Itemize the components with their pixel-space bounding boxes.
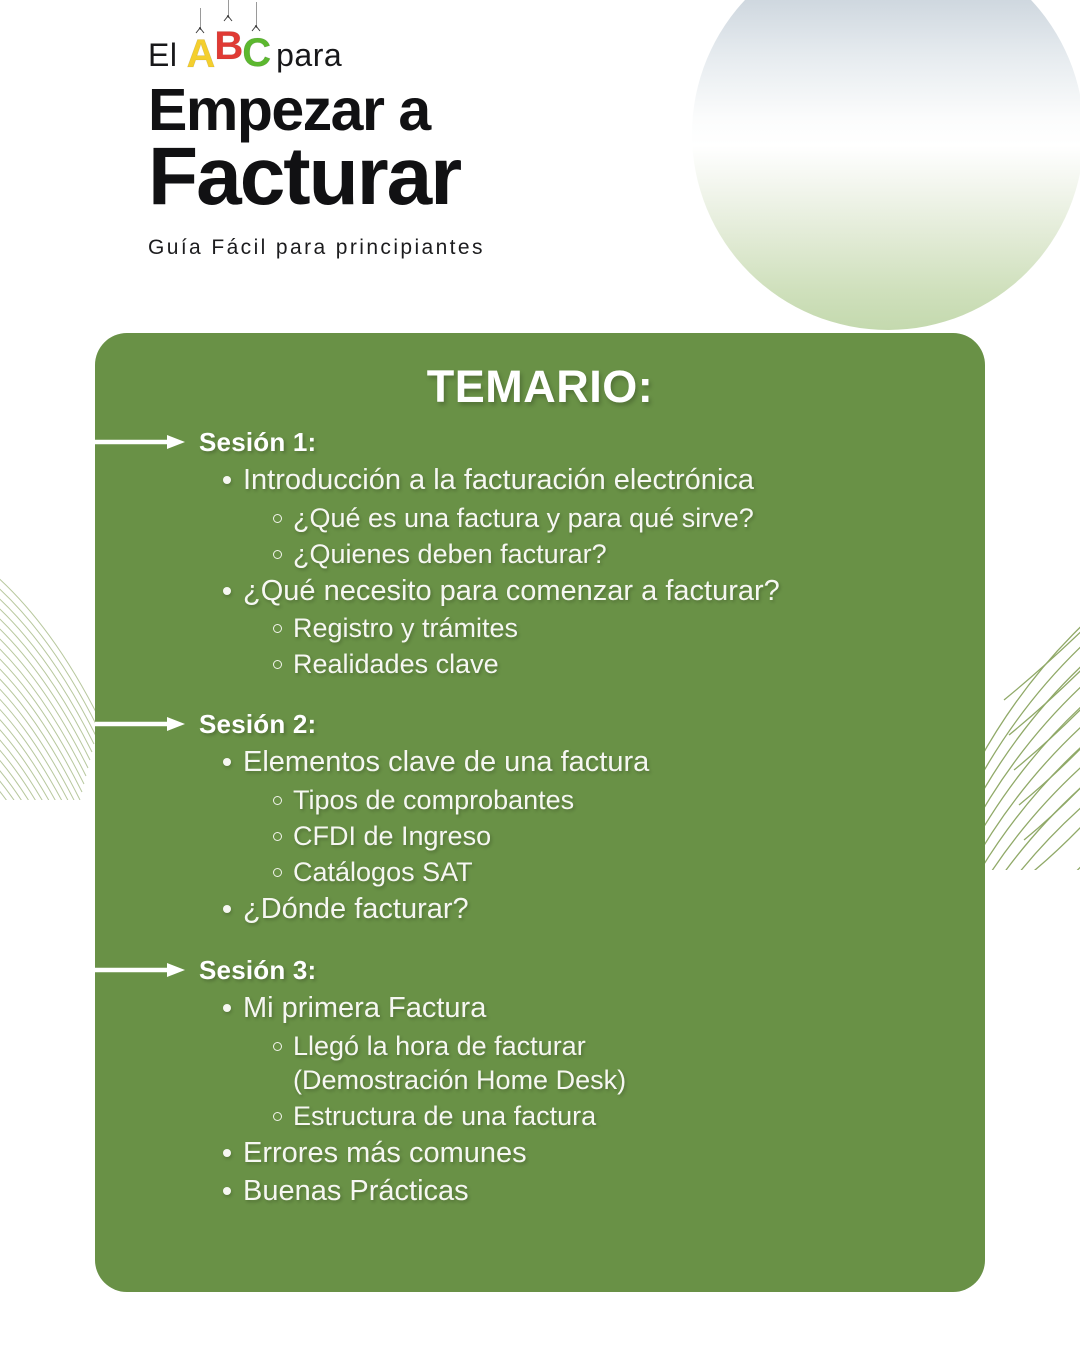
- session-2-header: Sesión 2:: [95, 707, 985, 741]
- abc-letter-b-glyph: B: [214, 24, 242, 68]
- session-2: Sesión 2:Elementos clave de una facturaT…: [95, 707, 985, 927]
- bullet-ring-icon: [273, 1112, 282, 1121]
- session-arrow-icon: [95, 433, 187, 451]
- abc-hanging-letters: A B C: [186, 24, 270, 74]
- session-1: Sesión 1:Introducción a la facturación e…: [95, 425, 985, 681]
- topic-label: Tipos de comprobantes: [293, 783, 574, 817]
- bullet-dot-icon: [223, 905, 231, 913]
- topic-item: Errores más comunes: [95, 1135, 985, 1172]
- topic-label: ¿Qué es una factura y para qué sirve?: [293, 501, 754, 535]
- topic-item: Elementos clave de una factura: [95, 744, 985, 781]
- topic-label: CFDI de Ingreso: [293, 819, 491, 853]
- topic-label: Introducción a la facturación electrónic…: [243, 462, 754, 499]
- session-2-label: Sesión 2:: [199, 709, 316, 740]
- topic-item: ¿Qué necesito para comenzar a facturar?: [95, 573, 985, 610]
- abc-letter-c-glyph: C: [242, 31, 270, 75]
- poster-header: El A B: [148, 24, 708, 260]
- topic-label: ¿Dónde facturar?: [243, 891, 469, 928]
- topic-label: Estructura de una factura: [293, 1099, 596, 1133]
- bullet-ring-icon: [273, 868, 282, 877]
- bullet-dot-icon: [223, 758, 231, 766]
- bullet-ring-icon: [273, 660, 282, 669]
- topic-label: Registro y trámites: [293, 611, 518, 645]
- abc-letter-a-icon: A: [186, 34, 214, 74]
- gradient-circle-decoration: [692, 0, 1080, 330]
- topic-item: CFDI de Ingreso: [95, 819, 985, 853]
- topic-label-continued: (Demostración Home Desk): [293, 1063, 626, 1097]
- kicker-line: El A B: [148, 24, 708, 74]
- topic-item: ¿Dónde facturar?: [95, 891, 985, 928]
- session-list: Sesión 1:Introducción a la facturación e…: [95, 425, 985, 1212]
- topic-label: Mi primera Factura: [243, 990, 486, 1027]
- abc-letter-a-glyph: A: [186, 32, 214, 76]
- bullet-ring-icon: [273, 624, 282, 633]
- session-3-header: Sesión 3:: [95, 953, 985, 987]
- session-1-label: Sesión 1:: [199, 427, 316, 458]
- topic-label: Errores más comunes: [243, 1135, 527, 1172]
- session-1-topics: Introducción a la facturación electrónic…: [95, 462, 985, 681]
- topic-item: Estructura de una factura: [95, 1099, 985, 1133]
- bullet-dot-icon: [223, 1187, 231, 1195]
- session-arrow-icon: [95, 715, 187, 733]
- topic-label: Elementos clave de una factura: [243, 744, 649, 781]
- topic-label: ¿Qué necesito para comenzar a facturar?: [243, 573, 780, 610]
- topic-item: Mi primera Factura: [95, 990, 985, 1027]
- clip-a-icon: [196, 27, 205, 34]
- topic-label: Realidades clave: [293, 647, 499, 681]
- topic-item: Llegó la hora de facturar(Demostración H…: [95, 1029, 985, 1097]
- bullet-dot-icon: [223, 1149, 231, 1157]
- abc-letter-b-icon: B: [214, 26, 242, 74]
- clip-c-icon: [252, 25, 261, 32]
- topic-item: Catálogos SAT: [95, 855, 985, 889]
- topic-item: Registro y trámites: [95, 611, 985, 645]
- bullet-ring-icon: [273, 832, 282, 841]
- bullet-ring-icon: [273, 514, 282, 523]
- bullet-dot-icon: [223, 1004, 231, 1012]
- temario-card: TEMARIO: Sesión 1:Introducción a la fact…: [95, 333, 985, 1292]
- topic-label: ¿Quienes deben facturar?: [293, 537, 607, 571]
- clip-b-icon: [224, 15, 233, 22]
- session-3-topics: Mi primera FacturaLlegó la hora de factu…: [95, 990, 985, 1210]
- session-1-header: Sesión 1:: [95, 425, 985, 459]
- topic-label: Catálogos SAT: [293, 855, 473, 889]
- kicker-suffix: para: [276, 39, 342, 74]
- abc-letter-c-icon: C: [242, 33, 270, 74]
- subtitle: Guía Fácil para principiantes: [148, 236, 708, 260]
- topic-item: Introducción a la facturación electrónic…: [95, 462, 985, 499]
- topic-item: ¿Quienes deben facturar?: [95, 537, 985, 571]
- temario-title: TEMARIO:: [95, 333, 985, 413]
- topic-item: Realidades clave: [95, 647, 985, 681]
- bullet-ring-icon: [273, 1042, 282, 1051]
- topic-item: ¿Qué es una factura y para qué sirve?: [95, 501, 985, 535]
- poster-canvas: El A B: [0, 0, 1080, 1350]
- topic-item: Buenas Prácticas: [95, 1173, 985, 1210]
- bullet-dot-icon: [223, 587, 231, 595]
- session-3: Sesión 3:Mi primera FacturaLlegó la hora…: [95, 953, 985, 1210]
- bullet-ring-icon: [273, 550, 282, 559]
- topic-label: Llegó la hora de facturar(Demostración H…: [293, 1029, 626, 1097]
- session-arrow-icon: [95, 961, 187, 979]
- bullet-ring-icon: [273, 796, 282, 805]
- topic-item: Tipos de comprobantes: [95, 783, 985, 817]
- topic-label: Buenas Prácticas: [243, 1173, 469, 1210]
- title-line-2: Facturar: [148, 136, 708, 218]
- kicker-prefix: El: [148, 39, 177, 74]
- session-2-topics: Elementos clave de una facturaTipos de c…: [95, 744, 985, 927]
- bullet-dot-icon: [223, 476, 231, 484]
- session-3-label: Sesión 3:: [199, 955, 316, 986]
